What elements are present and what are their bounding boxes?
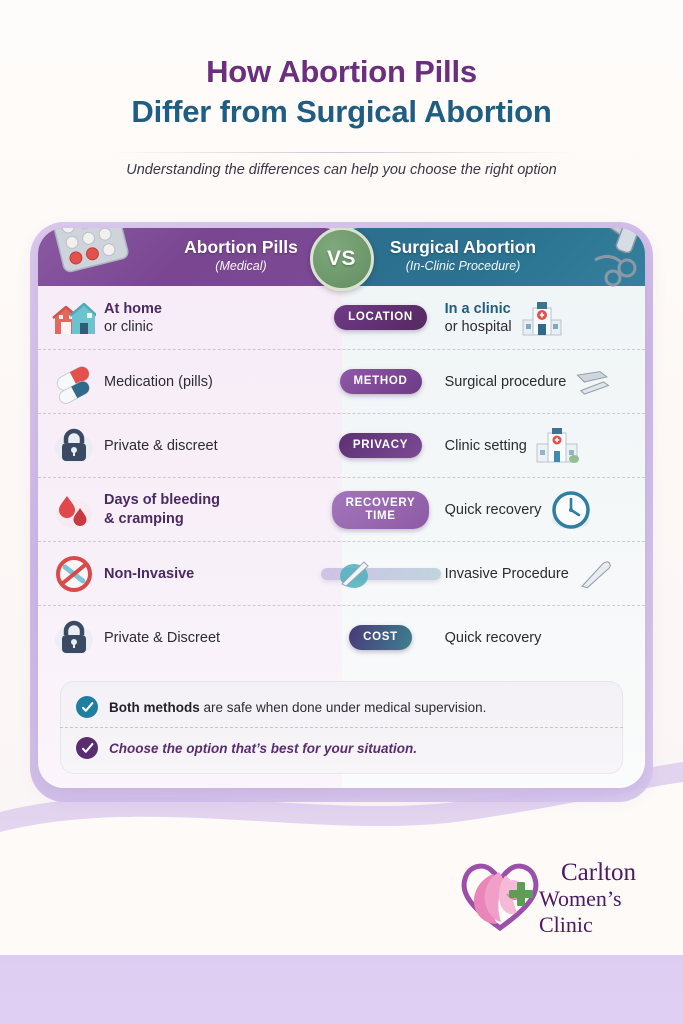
no-entry-icon <box>52 552 96 596</box>
comparison-rows: At home or clinic LOCATION In a clinic o… <box>38 286 645 669</box>
title-line-1: How Abortion Pills <box>0 52 683 92</box>
blood-drops-icon <box>52 488 96 532</box>
page-title: How Abortion Pills Differ from Surgical … <box>0 52 683 132</box>
row-left-line-1: Medication (pills) <box>104 373 213 391</box>
row-left-line-1: At home <box>104 300 162 318</box>
comparison-row: Medication (pills) METHOD Surgical proce… <box>38 350 645 414</box>
row-center-cell <box>316 542 444 605</box>
comparison-header: Abortion Pills (Medical) VS Surgical Abo… <box>38 228 645 286</box>
check-circle-icon <box>76 737 98 759</box>
note-text: Choose the option that’s best for your s… <box>109 741 417 756</box>
row-left-cell: Non-Invasive <box>38 542 316 605</box>
row-center-cell: RECOVERY TIME <box>316 478 444 541</box>
row-center-cell: LOCATION <box>316 286 444 349</box>
logo-line-1: Carlton <box>539 860 669 886</box>
row-center-cell: METHOD <box>316 350 444 413</box>
row-right-line-2: or hospital <box>445 318 512 336</box>
comparison-row: Non-Invasive Invasive Procedure <box>38 542 645 606</box>
comparison-row: Days of bleeding & cramping RECOVERY TIM… <box>38 478 645 542</box>
capsule-pills-icon <box>52 360 96 404</box>
row-right-cell: Invasive Procedure <box>445 542 645 605</box>
title-line-2: Differ from Surgical Abortion <box>0 92 683 132</box>
row-right-line-1: Quick recovery <box>445 629 542 647</box>
row-left-label: Days of bleeding & cramping <box>104 491 220 529</box>
row-right-cell: Clinic setting <box>445 414 645 477</box>
row-right-line-1: Surgical procedure <box>445 373 567 391</box>
surgical-tools-icon <box>539 228 643 290</box>
row-category-pill[interactable]: LOCATION <box>334 305 427 330</box>
heart-woman-logo-icon <box>455 854 545 934</box>
row-right-line-1: Clinic setting <box>445 437 527 455</box>
row-left-cell: Private & discreet <box>38 414 316 477</box>
row-right-cell: Surgical procedure <box>445 350 645 413</box>
row-right-line-1: Invasive Procedure <box>445 565 569 583</box>
comparison-row: At home or clinic LOCATION In a clinic o… <box>38 286 645 350</box>
logo-text: Carlton Women’s Clinic <box>539 860 669 938</box>
note-bold: Both methods <box>109 700 200 715</box>
note-rest: are safe when done under medical supervi… <box>200 700 487 715</box>
row-left-cell: Private & Discreet <box>38 606 316 669</box>
row-category-pill[interactable]: COST <box>349 625 412 650</box>
row-left-label: At home or clinic <box>104 300 162 336</box>
row-left-cell: Medication (pills) <box>38 350 316 413</box>
clinic-building-icon <box>535 424 579 468</box>
title-divider <box>110 152 573 153</box>
row-right-label: In a clinic or hospital <box>445 300 512 336</box>
check-circle-icon <box>76 696 98 718</box>
note-item: Both methods are safe when done under me… <box>60 687 623 727</box>
row-left-line-2: & cramping <box>104 510 220 529</box>
row-left-line-2: or clinic <box>104 318 162 336</box>
clinic-logo[interactable]: Carlton Women’s Clinic <box>455 848 665 940</box>
scalpel-icon <box>334 556 374 592</box>
row-left-line-1: Private & discreet <box>104 437 218 455</box>
note-text: Both methods are safe when done under me… <box>109 700 486 715</box>
row-category-pill[interactable]: METHOD <box>340 369 422 394</box>
row-left-line-1: Private & Discreet <box>104 629 220 647</box>
row-left-line-1: Non-Invasive <box>104 565 194 583</box>
row-category-pill[interactable]: PRIVACY <box>339 433 422 458</box>
row-center-cell: COST <box>316 606 444 669</box>
row-left-cell: At home or clinic <box>38 286 316 349</box>
row-right-cell: In a clinic or hospital <box>445 286 645 349</box>
row-left-line-1: Days of bleeding <box>104 491 220 510</box>
two-houses-icon <box>52 296 96 340</box>
surgical-tools-icon <box>574 363 612 401</box>
padlock-icon <box>52 424 96 468</box>
note-item: Choose the option that’s best for your s… <box>60 727 623 768</box>
bottom-accent-bar <box>0 955 683 1024</box>
row-right-line-1: Quick recovery <box>445 501 542 519</box>
comparison-row: Private & Discreet COST Quick recovery <box>38 606 645 669</box>
row-left-cell: Days of bleeding & cramping <box>38 478 316 541</box>
vs-badge: VS <box>310 228 374 291</box>
hospital-building-icon <box>520 296 564 340</box>
row-right-cell: Quick recovery <box>445 478 645 541</box>
row-center-cell: PRIVACY <box>316 414 444 477</box>
comparison-card: Abortion Pills (Medical) VS Surgical Abo… <box>38 228 645 788</box>
row-right-cell: Quick recovery <box>445 606 645 669</box>
logo-line-2: Women’s Clinic <box>539 886 669 938</box>
infographic-page: How Abortion Pills Differ from Surgical … <box>0 0 683 1024</box>
row-right-line-1: In a clinic <box>445 300 512 318</box>
blister-pack-icon <box>44 228 136 280</box>
comparison-row: Private & discreet PRIVACY Clinic settin… <box>38 414 645 478</box>
padlock-icon <box>52 616 96 660</box>
scalpel-icon <box>577 555 615 593</box>
row-category-pill[interactable]: RECOVERY TIME <box>332 491 430 529</box>
page-subtitle: Understanding the differences can help y… <box>0 162 683 178</box>
notes-panel: Both methods are safe when done under me… <box>60 681 623 774</box>
clock-icon <box>549 488 593 532</box>
